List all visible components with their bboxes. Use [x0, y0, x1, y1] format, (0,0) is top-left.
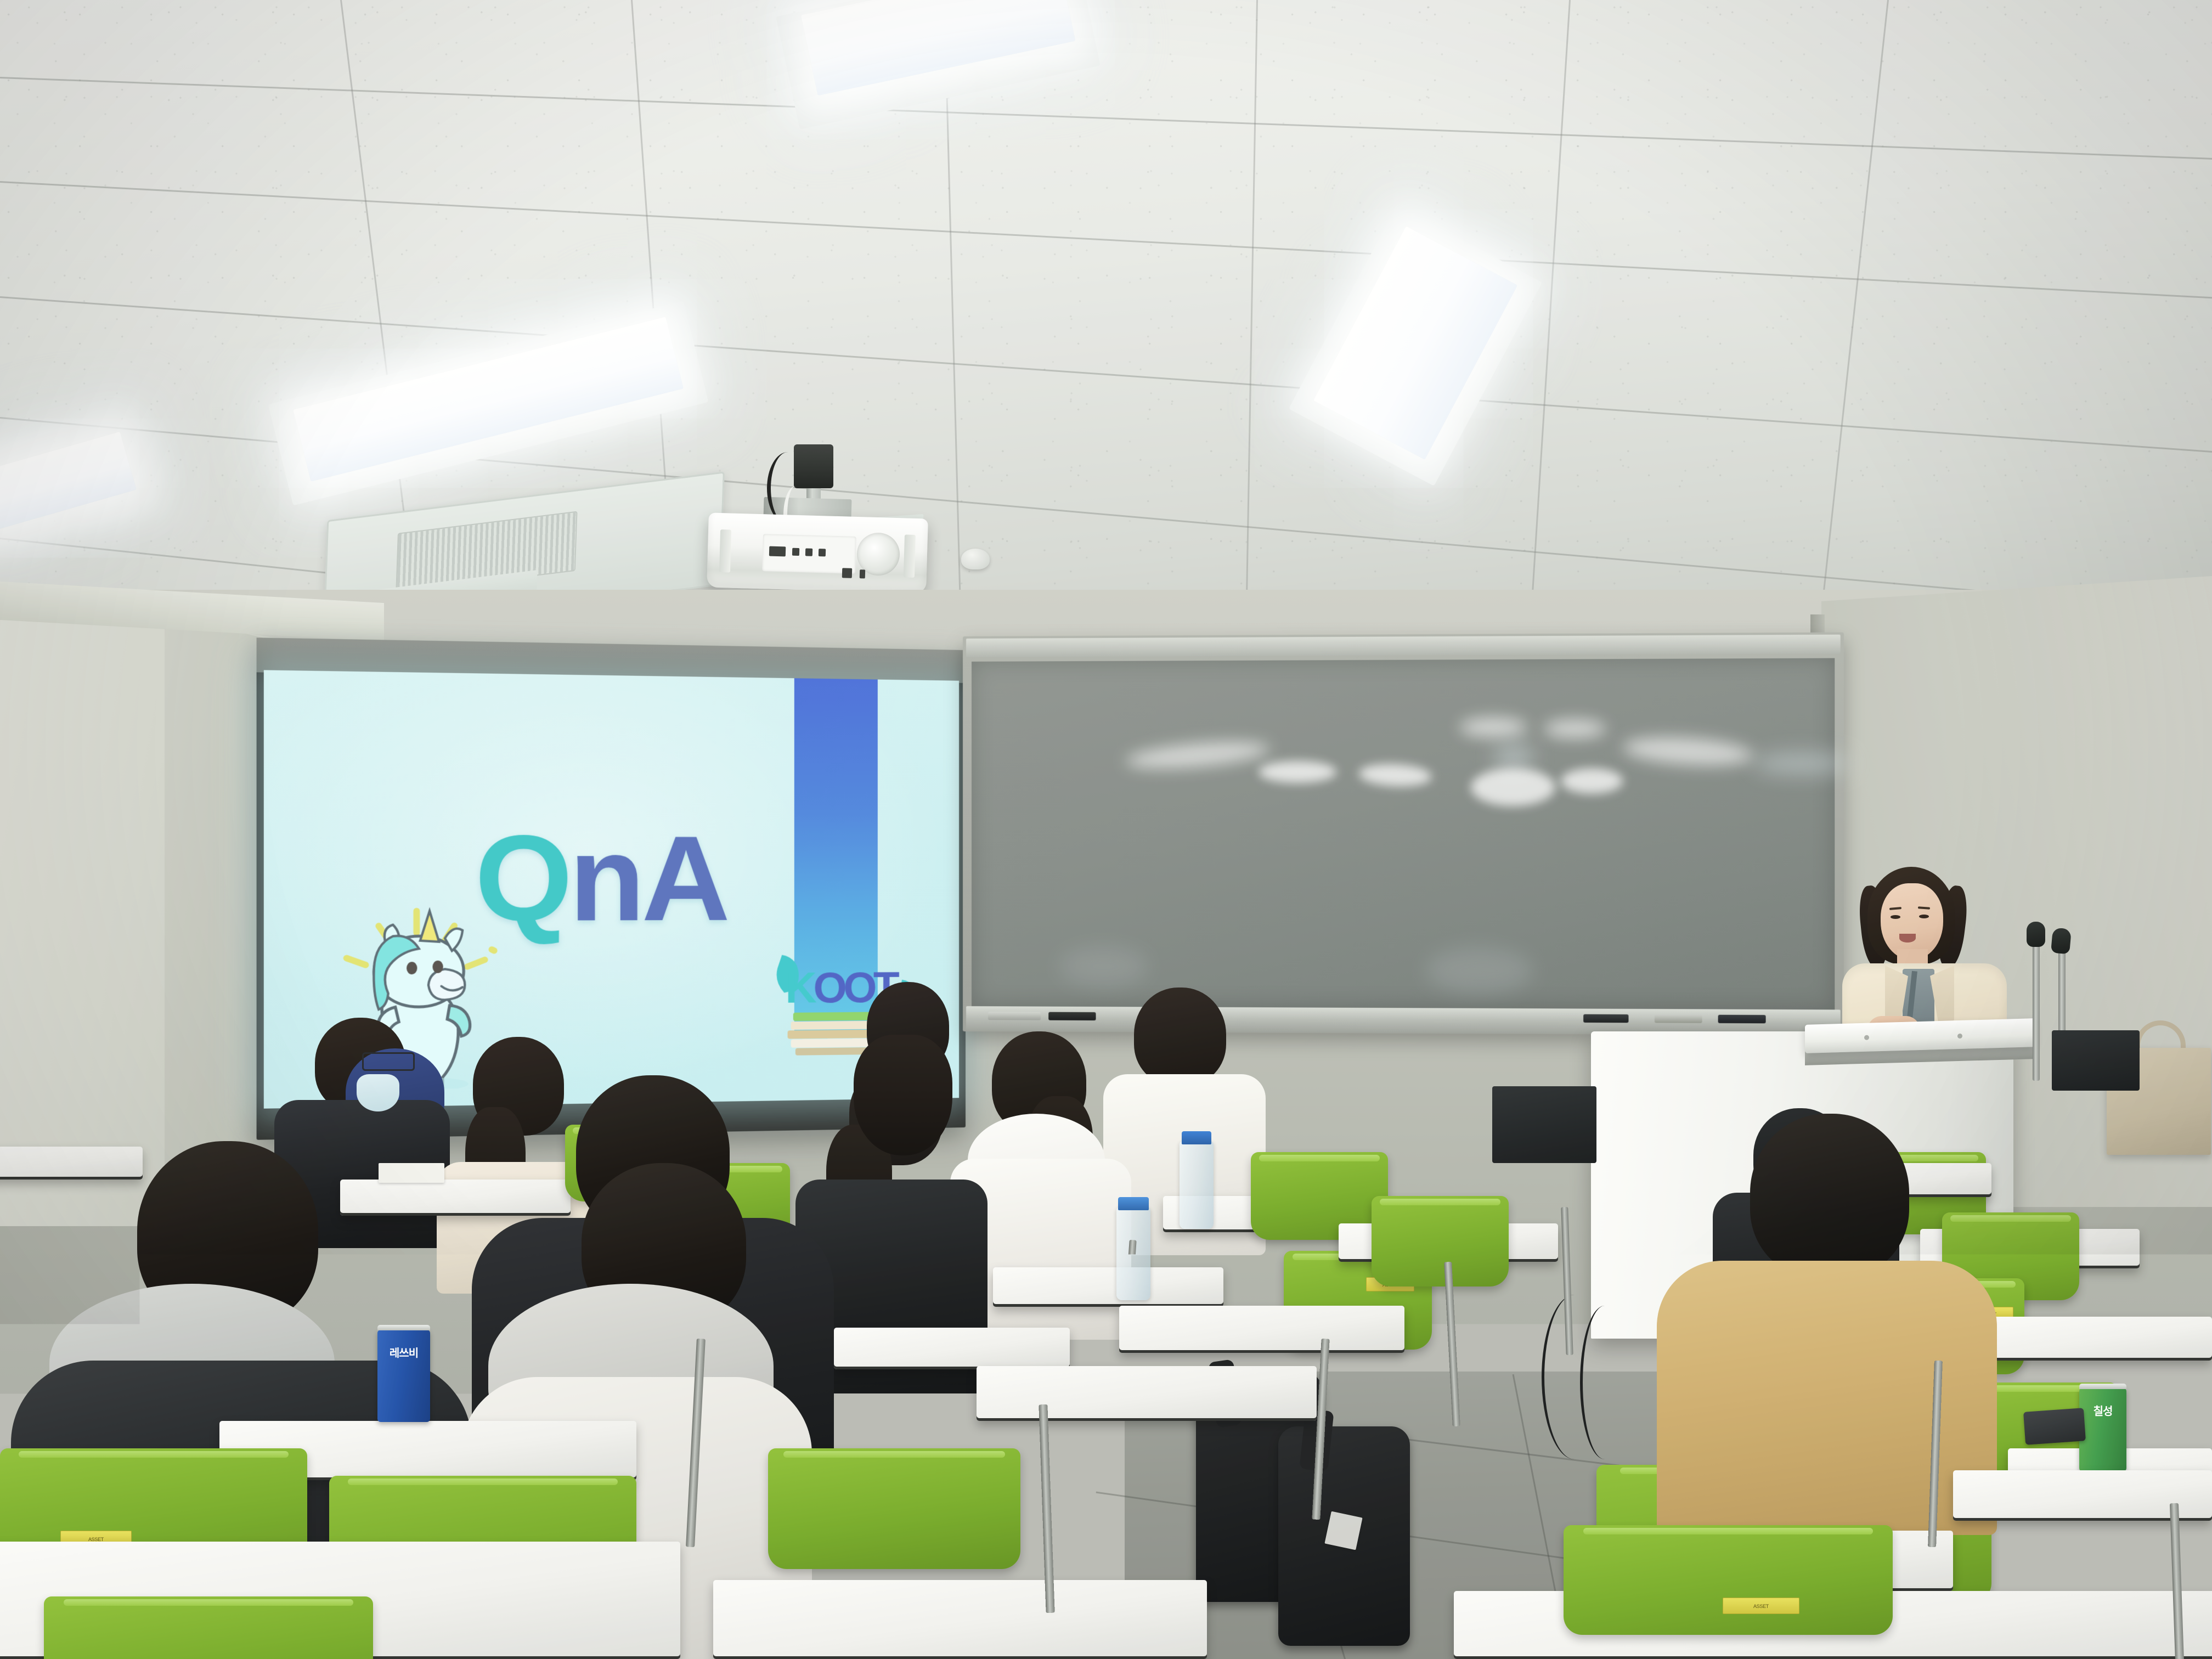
slide-title: QnA [475, 816, 727, 939]
monitor-right [2052, 1030, 2140, 1091]
blue-can-label: 레쓰비 [377, 1344, 430, 1360]
marker-black-2 [1048, 1012, 1096, 1020]
whiteboard-top-rail [966, 635, 1841, 657]
desk-mid-center [993, 1267, 1223, 1307]
blue-can[interactable]: 레쓰비 [377, 1330, 430, 1422]
bottle-cap-1 [1182, 1131, 1211, 1144]
chair-empty-5[interactable] [1372, 1196, 1509, 1286]
whiteboard-marker-tray [966, 1006, 1841, 1034]
desk-mid-left [834, 1328, 1070, 1369]
eyeglasses [362, 1052, 415, 1071]
projector [707, 512, 928, 593]
paper-in-backpack [1324, 1511, 1362, 1550]
marker-blue [1655, 1014, 1702, 1023]
smartphone[interactable] [2023, 1408, 2086, 1445]
whiteboard [963, 633, 1844, 1036]
face-mask [357, 1074, 399, 1111]
desk-bottom-center [713, 1580, 1207, 1659]
student-tan-shirt [1635, 1114, 2008, 1531]
microphone-1 [2027, 922, 2045, 947]
bottle-cap-2 [1118, 1197, 1149, 1210]
ceiling [0, 0, 2212, 647]
water-bottle-1[interactable] [1180, 1141, 1214, 1229]
microphone-stand-1 [2033, 933, 2040, 1081]
smoke-detector [961, 549, 990, 569]
svg-text:K: K [785, 963, 816, 1012]
marker-black-3 [1583, 1014, 1628, 1023]
microphone-2 [2051, 928, 2072, 955]
slide-title-na: nA [569, 810, 726, 946]
classroom-scene: QnA [0, 0, 2212, 1659]
marker-black-4 [1718, 1015, 1766, 1024]
chair-bottom-1[interactable]: ASSET [44, 1596, 373, 1659]
chair-asset-tag: ASSET [1723, 1598, 1799, 1614]
student-long-hair-front [839, 982, 988, 1163]
green-can[interactable]: 칠성 [2079, 1388, 2126, 1471]
monitor-back [1492, 1086, 1596, 1163]
desk-front-right [1119, 1306, 1404, 1353]
whiteboard-surface [972, 658, 1835, 1010]
chair-front-3[interactable] [768, 1448, 1020, 1569]
green-can-label: 칠성 [2079, 1402, 2126, 1418]
marker-black-1 [988, 1012, 1041, 1020]
floor-cable-2 [1580, 1306, 1629, 1459]
presenter-face [1881, 883, 1943, 960]
chair-bottom-2[interactable]: ASSET [1564, 1525, 1893, 1635]
desk-front-center [977, 1366, 1317, 1421]
